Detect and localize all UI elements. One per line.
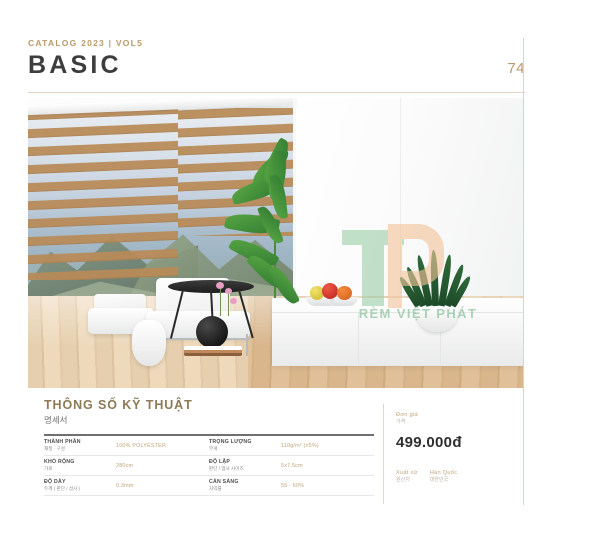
spec-value: 100% POLYESTER xyxy=(116,443,166,449)
spec-label-kr: 가로 xyxy=(44,466,116,472)
spec-column-right: TRỌNG LƯỢNG무게110g/m² (±5%)ĐỘ LẬP판단 / 염사 … xyxy=(209,436,374,496)
spec-row: KHỔ RỘNG가로280cm xyxy=(44,456,209,476)
title-row: BASIC 74 xyxy=(28,52,525,79)
spec-label-group: TRỌNG LƯỢNG무게 xyxy=(209,439,281,452)
bowl-stem xyxy=(330,299,334,306)
origin-label: Xuất xứ xyxy=(396,470,418,477)
spec-row: TRỌNG LƯỢNG무게110g/m² (±5%) xyxy=(209,436,374,456)
black-side-table xyxy=(168,280,254,356)
spec-subtitle: 명세서 xyxy=(44,414,374,426)
table-leg xyxy=(238,290,254,339)
spec-value: 0.3mm xyxy=(116,483,133,489)
spec-table: THÀNH PHẦN재질 · 구성100% POLYESTERKHỔ RỘNG가… xyxy=(44,436,374,496)
spec-row: CẢN SÁNG차익률55 - 60% xyxy=(209,476,374,496)
price-label-kr: 가격 xyxy=(396,419,516,426)
table-leg xyxy=(170,290,184,339)
origin-value-group: Hàn Quốc 대한민국 xyxy=(430,470,458,484)
price-label: Đơn giá xyxy=(396,412,516,419)
spec-label: KHỔ RỘNG xyxy=(44,459,116,465)
pink-flower xyxy=(230,298,237,304)
spec-label-group: ĐỘ LẬP판단 / 염사 사이즈 xyxy=(209,459,281,472)
white-vase xyxy=(132,320,166,366)
flower-stem xyxy=(220,286,221,316)
plant-leaf xyxy=(269,174,288,219)
pink-flower xyxy=(216,282,224,289)
spec-value: 5x7.5cm xyxy=(281,463,303,469)
spec-label-kr: 재질 · 구성 xyxy=(44,446,116,452)
spec-row: THÀNH PHẦN재질 · 구성100% POLYESTER xyxy=(44,436,209,456)
header-divider xyxy=(28,92,525,93)
spec-label-group: KHỔ RỘNG가로 xyxy=(44,459,116,472)
catalog-kicker: CATALOG 2023 | VOL5 xyxy=(28,38,525,48)
pink-flower xyxy=(225,288,232,294)
spec-label: THÀNH PHẦN xyxy=(44,439,116,445)
spec-label-group: CẢN SÁNG차익률 xyxy=(209,479,281,492)
spec-row: ĐỘ DÀY두께 ( 판단 / 섬사 )0.3mm xyxy=(44,476,209,496)
spec-title: THÔNG SỐ KỸ THUẬT xyxy=(44,398,374,413)
spec-label-kr: 무게 xyxy=(209,446,281,452)
spec-column-left: THÀNH PHẦN재질 · 구성100% POLYESTERKHỔ RỘNG가… xyxy=(44,436,209,496)
product-photo: RÈM VIỆT PHÁT xyxy=(28,98,523,388)
right-vertical-rule xyxy=(523,38,524,505)
brand-watermark: RÈM VIỆT PHÁT xyxy=(338,216,498,324)
spec-label-kr: 판단 / 염사 사이즈 xyxy=(209,466,281,472)
spec-label: ĐỘ DÀY xyxy=(44,479,116,485)
origin-label-group: Xuất xứ 원산지 xyxy=(396,470,418,484)
spec-label-group: THÀNH PHẦN재질 · 구성 xyxy=(44,439,116,452)
spec-value: 55 - 60% xyxy=(281,483,304,489)
watermark-text: RÈM VIỆT PHÁT xyxy=(338,306,498,321)
page-header: CATALOG 2023 | VOL5 BASIC 74 xyxy=(28,38,525,90)
origin-value: Hàn Quốc xyxy=(430,470,458,477)
origin-value-kr: 대한민국 xyxy=(430,477,458,484)
spec-row: ĐỘ LẬP판단 / 염사 사이즈5x7.5cm xyxy=(209,456,374,476)
spec-label-group: ĐỘ DÀY두께 ( 판단 / 섬사 ) xyxy=(44,479,116,492)
origin-label-kr: 원산지 xyxy=(396,477,418,484)
watermark-letter-t xyxy=(362,230,384,306)
stacked-books xyxy=(184,346,242,356)
spec-label-kr: 두께 ( 판단 / 섬사 ) xyxy=(44,486,116,492)
catalog-page: CATALOG 2023 | VOL5 BASIC 74 xyxy=(0,0,600,537)
spec-value: 280cm xyxy=(116,463,133,469)
page-title: BASIC xyxy=(28,52,122,79)
price-value: 499.000đ xyxy=(396,434,516,451)
spec-label-kr: 차익률 xyxy=(209,486,281,492)
watermark-letter-p xyxy=(388,224,444,286)
price-block: Đơn giá 가격 499.000đ xyxy=(396,412,516,451)
black-sphere-decor xyxy=(196,316,228,348)
spec-label: TRỌNG LƯỢNG xyxy=(209,439,281,445)
spec-value: 110g/m² (±5%) xyxy=(281,443,319,449)
spec-label: ĐỘ LẬP xyxy=(209,459,281,465)
price-divider xyxy=(383,404,384,504)
spec-label: CẢN SÁNG xyxy=(209,479,281,485)
fruit-apple-red xyxy=(322,283,338,299)
origin-block: Xuất xứ 원산지 Hàn Quốc 대한민국 xyxy=(396,470,516,484)
spec-section: THÔNG SỐ KỸ THUẬT 명세서 THÀNH PHẦN재질 · 구성1… xyxy=(44,398,374,496)
